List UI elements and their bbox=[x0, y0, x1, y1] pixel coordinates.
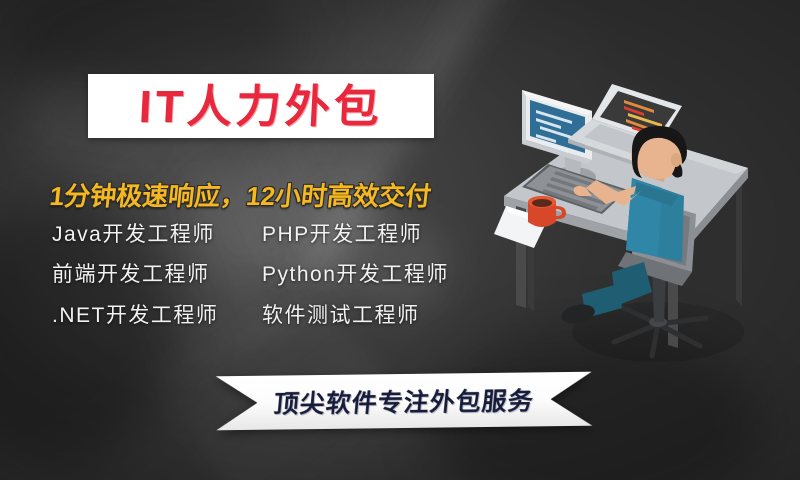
job-item-dotnet: .NET开发工程师 bbox=[52, 303, 262, 329]
developer-at-desk-illustration bbox=[486, 56, 798, 376]
bottom-ribbon: 顶尖软件专注外包服务 bbox=[216, 372, 593, 431]
job-item-python: Python开发工程师 bbox=[262, 262, 522, 288]
page-title: IT人力外包 bbox=[138, 84, 384, 129]
poster-canvas: IT人力外包 1分钟极速响应，12小时高效交付 Java开发工程师 PHP开发工… bbox=[0, 0, 800, 480]
job-item-java: Java开发工程师 bbox=[52, 222, 262, 248]
job-list: Java开发工程师 PHP开发工程师 前端开发工程师 Python开发工程师 .… bbox=[52, 222, 522, 329]
subtitle: 1分钟极速响应，12小时高效交付 bbox=[48, 176, 433, 213]
ribbon-label: 顶尖软件专注外包服务 bbox=[214, 372, 595, 431]
job-item-testing: 软件测试工程师 bbox=[262, 303, 522, 329]
title-banner: IT人力外包 bbox=[88, 74, 434, 138]
job-item-frontend: 前端开发工程师 bbox=[52, 262, 262, 288]
job-item-php: PHP开发工程师 bbox=[262, 222, 522, 248]
